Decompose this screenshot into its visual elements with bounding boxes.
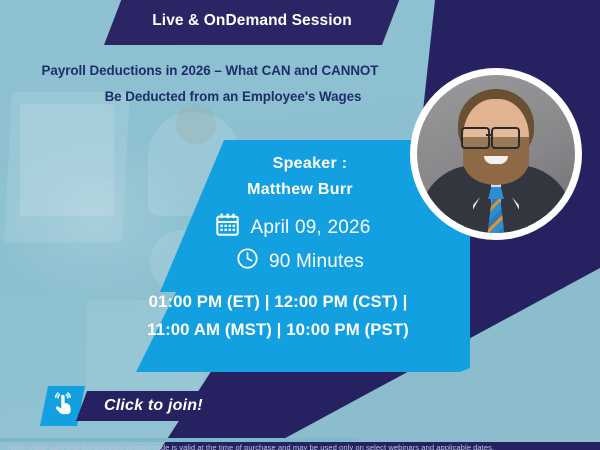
speaker-glasses-bridge	[486, 134, 491, 136]
session-times: 01:00 PM (ET) | 12:00 PM (CST) | 11:00 A…	[108, 288, 448, 344]
session-duration-row: 90 Minutes	[190, 247, 410, 276]
webinar-title-line-1: Payroll Deductions in 2026 – What CAN an…	[24, 58, 396, 84]
speaker-label: Speaker :	[220, 155, 400, 173]
speaker-name: Matthew Burr	[200, 181, 400, 199]
disclaimer-text: Note: Make sure that the discount coupon…	[8, 442, 592, 450]
session-duration-text: 90 Minutes	[269, 251, 364, 273]
live-ondemand-ribbon-label: Live & OnDemand Session	[152, 12, 352, 31]
speaker-avatar	[410, 68, 582, 240]
session-times-line-1: 01:00 PM (ET) | 12:00 PM (CST) |	[108, 288, 448, 316]
webinar-promo-banner: Live & OnDemand Session Payroll Deductio…	[0, 0, 600, 450]
click-to-join-label: Click to join!	[76, 397, 203, 415]
session-times-line-2: 11:00 AM (MST) | 10:00 PM (PST)	[108, 316, 448, 344]
session-date-row: April 09, 2026	[168, 212, 418, 243]
session-date-text: April 09, 2026	[250, 217, 370, 239]
speaker-photo	[417, 75, 575, 233]
calendar-icon	[215, 212, 240, 243]
background-person-head-shape	[176, 104, 216, 144]
click-to-join-button[interactable]: Click to join!	[76, 391, 262, 421]
clock-icon	[236, 247, 259, 276]
speaker-glasses-left	[461, 127, 490, 149]
click-hand-icon	[50, 391, 76, 422]
session-info-content: Speaker : Matthew Burr	[0, 140, 470, 375]
webinar-title-line-2: Be Deducted from an Employee's Wages	[24, 84, 396, 110]
live-ondemand-ribbon: Live & OnDemand Session	[104, 0, 400, 45]
webinar-title: Payroll Deductions in 2026 – What CAN an…	[24, 58, 396, 110]
speaker-glasses-right	[491, 127, 520, 149]
